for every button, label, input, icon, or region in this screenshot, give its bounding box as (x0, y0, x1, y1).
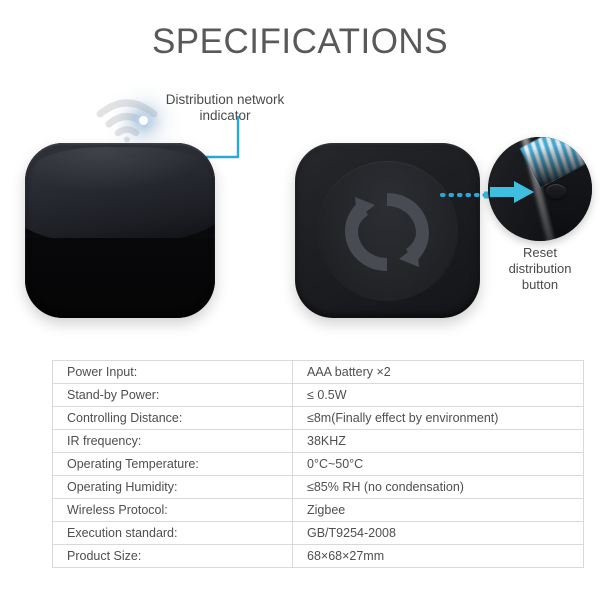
spec-value: Zigbee (293, 499, 584, 522)
product-illustration: Distribution network indicator (0, 85, 600, 340)
table-row: Product Size: 68×68×27mm (53, 545, 584, 568)
specifications-table-body: Power Input: AAA battery ×2 Stand-by Pow… (53, 361, 584, 568)
table-row: Execution standard: GB/T9254-2008 (53, 522, 584, 545)
callout-line-1: Distribution network (130, 92, 320, 108)
device-front-view (25, 143, 215, 318)
callout-line-1: Reset (485, 245, 595, 261)
spec-key: Wireless Protocol: (53, 499, 293, 522)
table-row: Controlling Distance: ≤8m(Finally effect… (53, 407, 584, 430)
spec-key: Operating Humidity: (53, 476, 293, 499)
spec-key: Power Input: (53, 361, 293, 384)
spec-value: 0°C~50°C (293, 453, 584, 476)
callout-line-2: distribution (485, 261, 595, 277)
device-back-view (295, 143, 480, 318)
table-row: Operating Humidity: ≤85% RH (no condensa… (53, 476, 584, 499)
table-row: IR frequency: 38KHZ (53, 430, 584, 453)
spec-value: ≤85% RH (no condensation) (293, 476, 584, 499)
spec-value: AAA battery ×2 (293, 361, 584, 384)
spec-key: IR frequency: (53, 430, 293, 453)
spec-value: ≤ 0.5W (293, 384, 584, 407)
spec-value: 38KHZ (293, 430, 584, 453)
spec-key: Execution standard: (53, 522, 293, 545)
inset-pointer-arrow (490, 179, 536, 205)
table-row: Power Input: AAA battery ×2 (53, 361, 584, 384)
callout-reset-distribution-button: Reset distribution button (485, 245, 595, 293)
reset-button[interactable] (546, 184, 566, 199)
page-title: SPECIFICATIONS (0, 22, 600, 62)
table-row: Operating Temperature: 0°C~50°C (53, 453, 584, 476)
device-rim (25, 143, 215, 318)
spec-key: Operating Temperature: (53, 453, 293, 476)
callout-line-3: button (485, 277, 595, 293)
device-back-rim (295, 143, 480, 318)
specifications-table: Power Input: AAA battery ×2 Stand-by Pow… (52, 360, 584, 568)
spec-key: Product Size: (53, 545, 293, 568)
spec-value: 68×68×27mm (293, 545, 584, 568)
spec-key: Stand-by Power: (53, 384, 293, 407)
table-row: Stand-by Power: ≤ 0.5W (53, 384, 584, 407)
spec-key: Controlling Distance: (53, 407, 293, 430)
spec-value: ≤8m(Finally effect by environment) (293, 407, 584, 430)
table-row: Wireless Protocol: Zigbee (53, 499, 584, 522)
spec-value: GB/T9254-2008 (293, 522, 584, 545)
led-indicator (139, 116, 148, 125)
reset-button-zoom-inset (488, 137, 592, 241)
